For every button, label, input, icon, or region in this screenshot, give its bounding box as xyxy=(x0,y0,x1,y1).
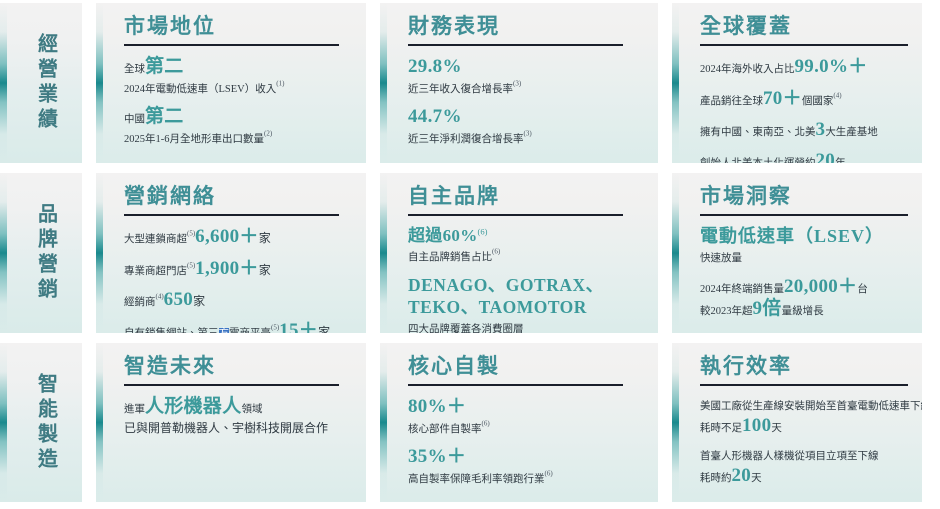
stat-text: 20,000＋ xyxy=(784,276,857,297)
stat-text: 首臺人形機器人樣機從項目立項至下線 xyxy=(700,451,879,462)
stat-text: 自有銷售網站、第三 xyxy=(124,328,219,333)
stat-block: 中國第二2025年1-6月全地形車出口數量(2) xyxy=(124,106,352,147)
card-title: 市場地位 xyxy=(124,15,352,38)
stat-text: 較2023年超 xyxy=(700,306,753,317)
stat-line: 耗時約20天 xyxy=(700,465,908,487)
stat-text: 650 xyxy=(164,289,193,310)
stat-text: 中國 xyxy=(124,114,145,125)
card-title: 市場洞察 xyxy=(700,185,908,208)
stat-line: 超過60%(6) xyxy=(408,226,644,247)
card-body: 全球第二2024年電動低速車（LSEV）收入(1)中國第二2025年1-6月全地… xyxy=(124,56,352,148)
stat-text: 年 xyxy=(835,158,846,163)
stat-block: DENAGO、GOTRAX、TEKO、TAOMOTOR四大品牌覆蓋各消費圈層 xyxy=(408,275,644,333)
stat-text: 6,600＋ xyxy=(195,226,259,247)
stat-line: 擁有中國、東南亞、北美3大生產基地 xyxy=(700,119,908,141)
stat-line: 核心部件自製率(6) xyxy=(408,419,644,438)
stat-text: 80%＋ xyxy=(408,396,466,417)
stat-line: 四大品牌覆蓋各消費圈層 xyxy=(408,319,644,333)
stat-line: 2024年海外收入占比99.0%＋ xyxy=(700,56,908,78)
accent-edge-bar xyxy=(96,173,103,333)
row-label-panel-1: 經營業績 xyxy=(0,3,82,163)
stat-block: 擁有中國、東南亞、北美3大生產基地 xyxy=(700,119,908,141)
accent-edge-bar xyxy=(0,173,7,333)
footnote-marker: (1) xyxy=(276,79,284,87)
title-divider xyxy=(408,214,623,216)
highlight-card-r1-c2: 財務表現29.8%近三年收入復合增長率(3)44.7%近三年淨利潤復合增長率(3… xyxy=(380,3,658,163)
stat-text: 美國工廠從生產線安裝開始至首臺電動低速車下線 xyxy=(700,401,922,412)
stat-block: 電動低速車（LSEV）快速放量 xyxy=(700,226,908,267)
stat-line: 產品銷往全球70＋個國家(4) xyxy=(700,88,908,110)
stat-text: 天 xyxy=(751,473,762,484)
stat-text: DENAGO、GOTRAX、 xyxy=(408,275,604,295)
stat-block: 80%＋核心部件自製率(6) xyxy=(408,396,644,437)
stat-line: 35%＋ xyxy=(408,446,644,468)
row-label-panel-2: 品牌營銷 xyxy=(0,173,82,333)
stat-block: 超過60%(6)自主品牌銷售占比(6) xyxy=(408,226,644,266)
title-divider xyxy=(124,44,339,46)
stat-text: 個國家 xyxy=(802,96,834,107)
highlight-card-r1-c1: 市場地位全球第二2024年電動低速車（LSEV）收入(1)中國第二2025年1-… xyxy=(96,3,366,163)
card-title: 財務表現 xyxy=(408,15,644,38)
stat-text: 大型連鎖商超 xyxy=(124,234,187,245)
highlight-card-r1-c3: 全球覆蓋2024年海外收入占比99.0%＋產品銷往全球70＋個國家(4)擁有中國… xyxy=(672,3,922,163)
stat-line: 經銷商(4)650家 xyxy=(124,289,352,311)
stat-text: 產品銷往全球 xyxy=(700,96,763,107)
footnote-marker: (4) xyxy=(833,91,841,99)
card-title: 智造未來 xyxy=(124,355,352,378)
stat-block: 產品銷往全球70＋個國家(4) xyxy=(700,88,908,110)
stat-line: 自主品牌銷售占比(6) xyxy=(408,247,644,266)
stat-text: 29.8% xyxy=(408,56,462,77)
stat-block: 大型連鎖商超(5)6,600＋家 xyxy=(124,226,352,248)
stat-text: 超過60% xyxy=(408,226,478,245)
title-divider xyxy=(700,384,908,386)
stat-text: 創始人北美本土化運營約 xyxy=(700,158,816,163)
title-divider xyxy=(124,384,339,386)
accent-edge-bar xyxy=(672,343,679,502)
stat-text: 家 xyxy=(259,231,271,245)
stat-text: 方 xyxy=(219,328,230,333)
stat-text: 家 xyxy=(259,263,271,277)
stat-text: 第二 xyxy=(145,106,184,127)
stat-block: 29.8%近三年收入復合增長率(3) xyxy=(408,56,644,97)
footnote-marker: (3) xyxy=(524,129,532,137)
stat-line: 中國第二 xyxy=(124,106,352,128)
stat-block: 全球第二2024年電動低速車（LSEV）收入(1) xyxy=(124,56,352,97)
stat-text: 近三年淨利潤復合增長率 xyxy=(408,134,524,145)
stat-line: 專業商超門店(5)1,900＋家 xyxy=(124,258,352,280)
accent-edge-bar xyxy=(96,3,103,163)
row-label-text: 品牌營銷 xyxy=(35,203,56,303)
footnote-marker: (5) xyxy=(187,230,195,238)
stat-line: 全球第二 xyxy=(124,56,352,78)
row-label-panel-3: 智能製造 xyxy=(0,343,82,502)
stat-text: 自主品牌銷售占比 xyxy=(408,252,492,263)
stat-block: 44.7%近三年淨利潤復合增長率(3) xyxy=(408,106,644,147)
card-title: 自主品牌 xyxy=(408,185,644,208)
stat-line: 2024年電動低速車（LSEV）收入(1) xyxy=(124,79,352,98)
stat-text: 3 xyxy=(816,119,826,140)
stat-text: 電動低速車（LSEV） xyxy=(700,226,884,246)
stat-text: 四大品牌覆蓋各消費圈層 xyxy=(408,324,524,333)
stat-line: 近三年收入復合增長率(3) xyxy=(408,79,644,98)
card-title: 全球覆蓋 xyxy=(700,15,908,38)
stat-text: TEKO、TAOMOTOR xyxy=(408,297,587,317)
accent-edge-bar xyxy=(0,343,7,502)
stat-line: 較2023年超9倍量級增長 xyxy=(700,298,908,320)
title-divider xyxy=(124,214,339,216)
row-label-text: 智能製造 xyxy=(35,373,56,473)
highlight-card-r3-c3: 執行效率美國工廠從生產線安裝開始至首臺電動低速車下線耗時不足100天首臺人形機器… xyxy=(672,343,922,502)
card-body: 29.8%近三年收入復合增長率(3)44.7%近三年淨利潤復合增長率(3) xyxy=(408,56,644,148)
stat-text: 2024年電動低速車（LSEV）收入 xyxy=(124,84,276,95)
stat-line: 80%＋ xyxy=(408,396,644,418)
stat-text: 進軍 xyxy=(124,404,145,415)
footnote-marker: (6) xyxy=(482,419,490,427)
stat-block: 2024年海外收入占比99.0%＋ xyxy=(700,56,908,78)
highlight-card-r2-c2: 自主品牌超過60%(6)自主品牌銷售占比(6)DENAGO、GOTRAX、TEK… xyxy=(380,173,658,333)
stat-line: 2025年1-6月全地形車出口數量(2) xyxy=(124,129,352,148)
stat-line: 29.8% xyxy=(408,56,644,78)
footnote-marker: (6) xyxy=(492,248,500,256)
stat-block: 35%＋高自製率保障毛利率領跑行業(6) xyxy=(408,446,644,487)
highlight-card-r3-c2: 核心自製80%＋核心部件自製率(6)35%＋高自製率保障毛利率領跑行業(6) xyxy=(380,343,658,502)
stat-text: 大生產基地 xyxy=(825,127,878,138)
stat-text: 2025年1-6月全地形車出口數量 xyxy=(124,134,264,145)
card-body: 大型連鎖商超(5)6,600＋家專業商超門店(5)1,900＋家經銷商(4)65… xyxy=(124,226,352,333)
stat-line: 快速放量 xyxy=(700,248,908,267)
stat-text: 35%＋ xyxy=(408,446,466,467)
stat-text: 高自製率保障毛利率領跑行業 xyxy=(408,474,545,485)
footnote-marker: (5) xyxy=(271,324,279,332)
stat-text: 領域 xyxy=(242,404,263,415)
stat-line: 創始人北美本土化運營約20年 xyxy=(700,150,908,163)
footnote-marker: (5) xyxy=(187,261,195,269)
stat-text: 天 xyxy=(771,423,782,434)
card-title: 核心自製 xyxy=(408,355,644,378)
footnote-marker: (2) xyxy=(264,129,272,137)
stat-line: 高自製率保障毛利率領跑行業(6) xyxy=(408,469,644,488)
stat-text: 核心部件自製率 xyxy=(408,424,482,435)
stat-block: 創始人北美本土化運營約20年 xyxy=(700,150,908,163)
accent-edge-bar xyxy=(380,173,387,333)
stat-line: DENAGO、GOTRAX、 xyxy=(408,275,644,297)
stat-text: 1,900＋ xyxy=(195,258,259,279)
stat-block: 自有銷售網站、第三方電商平臺(5)15＋家 xyxy=(124,320,352,333)
row-label-text: 經營業績 xyxy=(35,33,56,133)
stat-text: 15＋ xyxy=(279,320,318,333)
highlight-card-r2-c3: 市場洞察電動低速車（LSEV）快速放量2024年終端銷售量20,000＋台較20… xyxy=(672,173,922,333)
stat-text: 量級增長 xyxy=(782,306,824,317)
footnote-marker: (6) xyxy=(545,469,553,477)
card-body: 80%＋核心部件自製率(6)35%＋高自製率保障毛利率領跑行業(6) xyxy=(408,396,644,488)
stat-block: 首臺人形機器人樣機從項目立項至下線耗時約20天 xyxy=(700,446,908,487)
stat-text: 2024年終端銷售量 xyxy=(700,284,784,295)
stat-text: 第二 xyxy=(145,56,184,77)
stat-text: 快速放量 xyxy=(700,253,742,264)
title-divider xyxy=(700,44,908,46)
stat-text: 專業商超門店 xyxy=(124,266,187,277)
card-title: 執行效率 xyxy=(700,355,908,378)
stat-line: 首臺人形機器人樣機從項目立項至下線 xyxy=(700,446,908,465)
highlights-grid: 經營業績市場地位全球第二2024年電動低速車（LSEV）收入(1)中國第二202… xyxy=(0,0,940,509)
footnote-marker: (6) xyxy=(478,227,488,237)
card-body: 2024年海外收入占比99.0%＋產品銷往全球70＋個國家(4)擁有中國、東南亞… xyxy=(700,56,908,163)
stat-line: 進軍人形機器人領域 xyxy=(124,396,352,418)
stat-text: 99.0%＋ xyxy=(795,56,868,77)
stat-line: 近三年淨利潤復合增長率(3) xyxy=(408,129,644,148)
stat-block: 專業商超門店(5)1,900＋家 xyxy=(124,258,352,280)
stat-text: 耗時約 xyxy=(700,473,732,484)
accent-edge-bar xyxy=(96,343,103,502)
stat-block: 經銷商(4)650家 xyxy=(124,289,352,311)
stat-line: 電動低速車（LSEV） xyxy=(700,226,908,248)
stat-line: 自有銷售網站、第三方電商平臺(5)15＋家 xyxy=(124,320,352,333)
card-body: 進軍人形機器人領域已與開普勒機器人、宇樹科技開展合作 xyxy=(124,396,352,437)
stat-text: 70＋ xyxy=(763,88,802,109)
title-divider xyxy=(408,44,623,46)
stat-line: 美國工廠從生產線安裝開始至首臺電動低速車下線 xyxy=(700,396,908,415)
accent-edge-bar xyxy=(672,3,679,163)
stat-text: 20 xyxy=(732,465,752,486)
accent-edge-bar xyxy=(380,3,387,163)
stat-text: 44.7% xyxy=(408,106,462,127)
stat-text: 家 xyxy=(318,325,330,333)
card-body: 超過60%(6)自主品牌銷售占比(6)DENAGO、GOTRAX、TEKO、TA… xyxy=(408,226,644,333)
stat-text: 已與開普勒機器人、宇樹科技開展合作 xyxy=(124,421,328,435)
highlight-card-r3-c1: 智造未來進軍人形機器人領域已與開普勒機器人、宇樹科技開展合作 xyxy=(96,343,366,502)
stat-block: 2024年終端銷售量20,000＋台較2023年超9倍量級增長 xyxy=(700,276,908,321)
stat-block: 美國工廠從生產線安裝開始至首臺電動低速車下線耗時不足100天 xyxy=(700,396,908,437)
stat-text: 人形機器人 xyxy=(145,396,242,417)
stat-block: 進軍人形機器人領域已與開普勒機器人、宇樹科技開展合作 xyxy=(124,396,352,437)
stat-text: 100 xyxy=(742,415,771,436)
stat-text: 2024年海外收入占比 xyxy=(700,64,795,75)
card-body: 電動低速車（LSEV）快速放量2024年終端銷售量20,000＋台較2023年超… xyxy=(700,226,908,321)
stat-text: 電商平臺 xyxy=(229,328,271,333)
stat-text: 台 xyxy=(857,284,868,295)
stat-text: 經銷商 xyxy=(124,297,156,308)
stat-text: 9倍 xyxy=(753,298,782,319)
footnote-marker: (3) xyxy=(513,79,521,87)
stat-line: 大型連鎖商超(5)6,600＋家 xyxy=(124,226,352,248)
stat-line: 44.7% xyxy=(408,106,644,128)
stat-text: 全球 xyxy=(124,64,145,75)
stat-line: 耗時不足100天 xyxy=(700,415,908,437)
stat-text: 近三年收入復合增長率 xyxy=(408,84,513,95)
footnote-marker: (4) xyxy=(156,293,164,301)
stat-line: 2024年終端銷售量20,000＋台 xyxy=(700,276,908,298)
title-divider xyxy=(408,384,623,386)
accent-edge-bar xyxy=(672,173,679,333)
card-body: 美國工廠從生產線安裝開始至首臺電動低速車下線耗時不足100天首臺人形機器人樣機從… xyxy=(700,396,908,488)
stat-text: 耗時不足 xyxy=(700,423,742,434)
stat-text: 擁有中國、東南亞、北美 xyxy=(700,127,816,138)
accent-edge-bar xyxy=(380,343,387,502)
stat-text: 家 xyxy=(193,294,205,308)
accent-edge-bar xyxy=(0,3,7,163)
title-divider xyxy=(700,214,908,216)
stat-line: 已與開普勒機器人、宇樹科技開展合作 xyxy=(124,419,352,438)
highlight-card-r2-c1: 營銷網絡大型連鎖商超(5)6,600＋家專業商超門店(5)1,900＋家經銷商(… xyxy=(96,173,366,333)
card-title: 營銷網絡 xyxy=(124,185,352,208)
stat-line: TEKO、TAOMOTOR xyxy=(408,297,644,319)
stat-text: 20 xyxy=(816,150,836,163)
